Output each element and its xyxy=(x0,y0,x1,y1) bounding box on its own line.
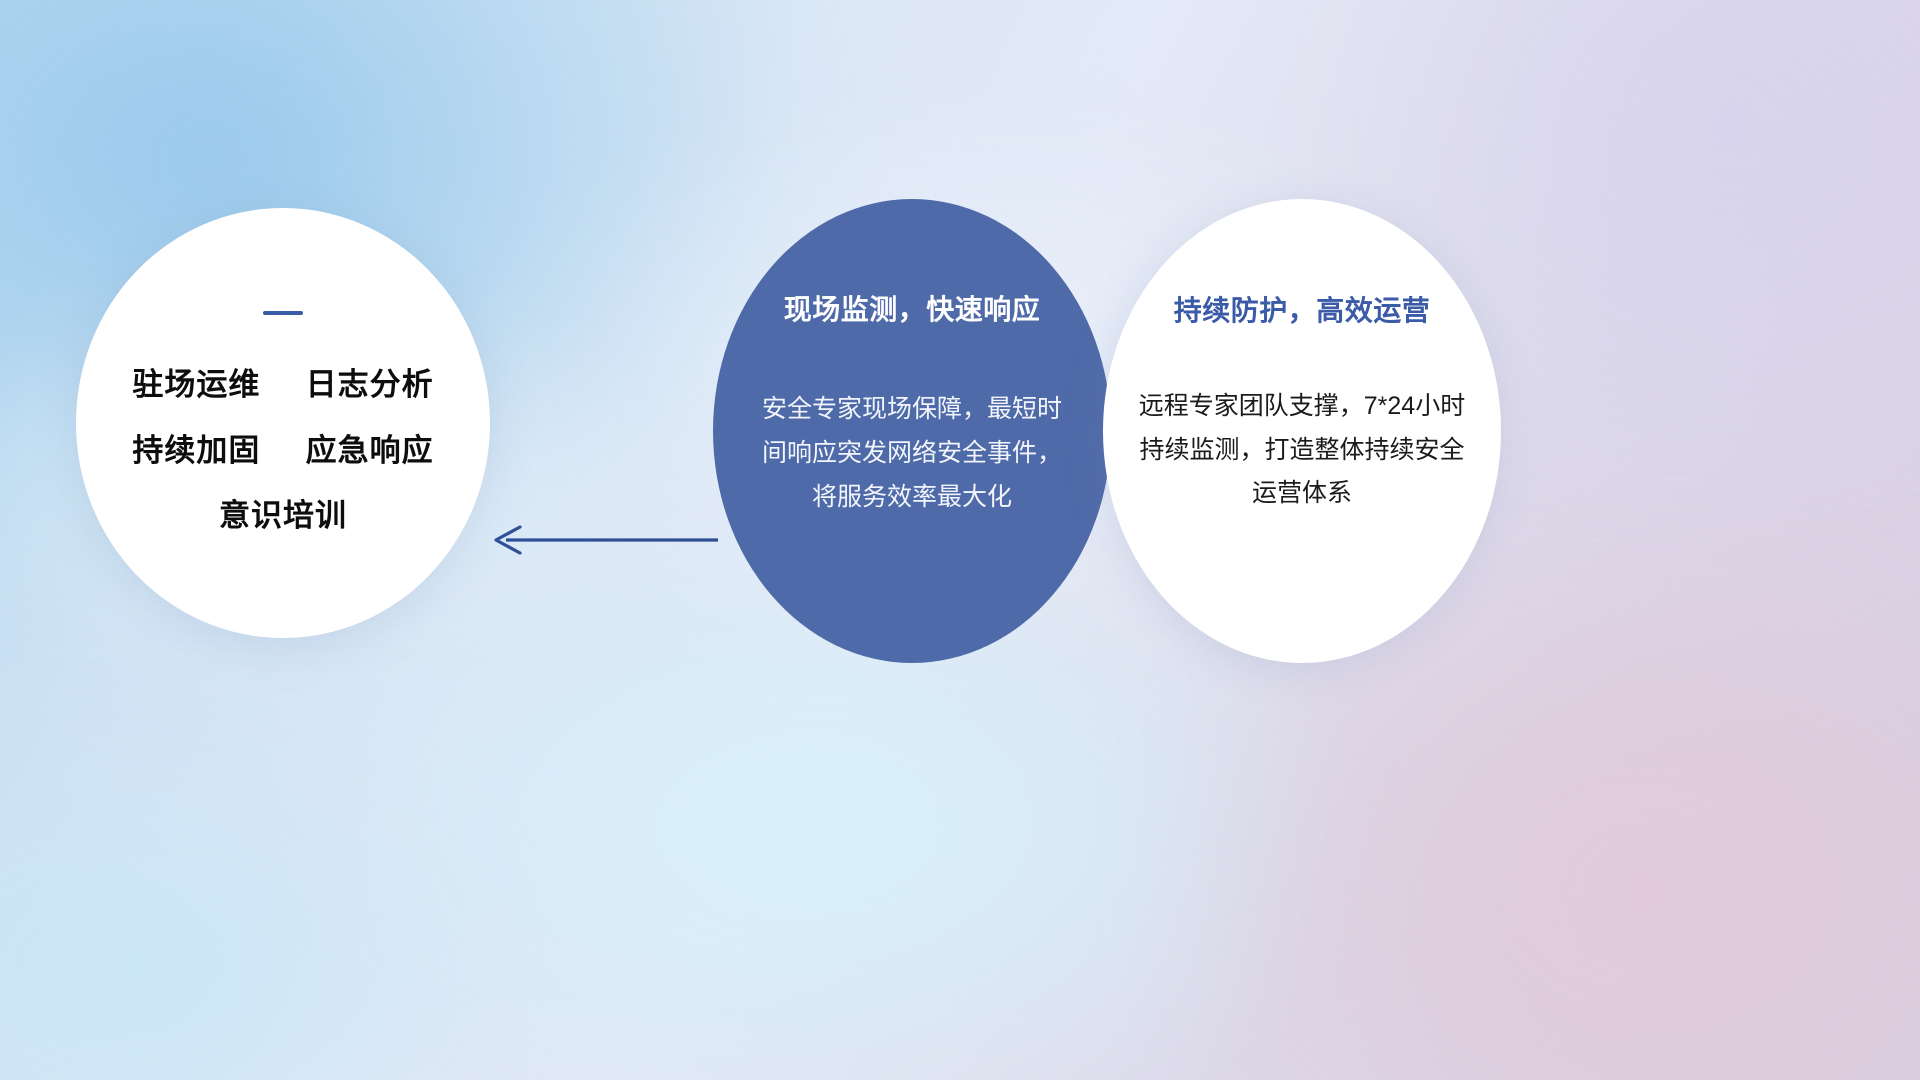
capability-circle-right: 持续防护，高效运营 远程专家团队支撑，7*24小时持续监测，打造整体持续安全运营… xyxy=(1103,199,1501,663)
keyword-row: 持续加固 应急响应 xyxy=(132,435,433,468)
background-glow-bottom-left xyxy=(0,760,480,1080)
horizontal-dash-icon xyxy=(263,311,303,315)
center-circle-title: 现场监测，快速响应 xyxy=(784,288,1041,328)
keyword-row: 驻场运维 日志分析 xyxy=(132,369,433,402)
keyword-label: 持续加固 xyxy=(132,433,260,468)
right-circle-body: 远程专家团队支撑，7*24小时持续监测，打造整体持续安全运营体系 xyxy=(1137,385,1467,516)
capability-circle-center: 现场监测，快速响应 安全专家现场保障，最短时间响应突发网络安全事件，将服务效率最… xyxy=(713,199,1111,663)
slide-canvas: 驻场运维 日志分析 持续加固 应急响应 意识培训 现场监测，快速响应 安全专家现… xyxy=(0,0,1920,1080)
right-circle-title: 持续防护，高效运营 xyxy=(1174,289,1431,329)
keyword-row: 意识培训 xyxy=(219,500,347,533)
arrow-left-icon xyxy=(480,516,720,564)
keyword-label: 驻场运维 xyxy=(132,367,260,402)
keyword-label: 应急响应 xyxy=(306,433,434,468)
keyword-label: 日志分析 xyxy=(306,367,434,402)
capability-circle-left: 驻场运维 日志分析 持续加固 应急响应 意识培训 xyxy=(76,208,490,638)
center-circle-body: 安全专家现场保障，最短时间响应突发网络安全事件，将服务效率最大化 xyxy=(762,387,1062,519)
keyword-label: 意识培训 xyxy=(219,498,347,533)
